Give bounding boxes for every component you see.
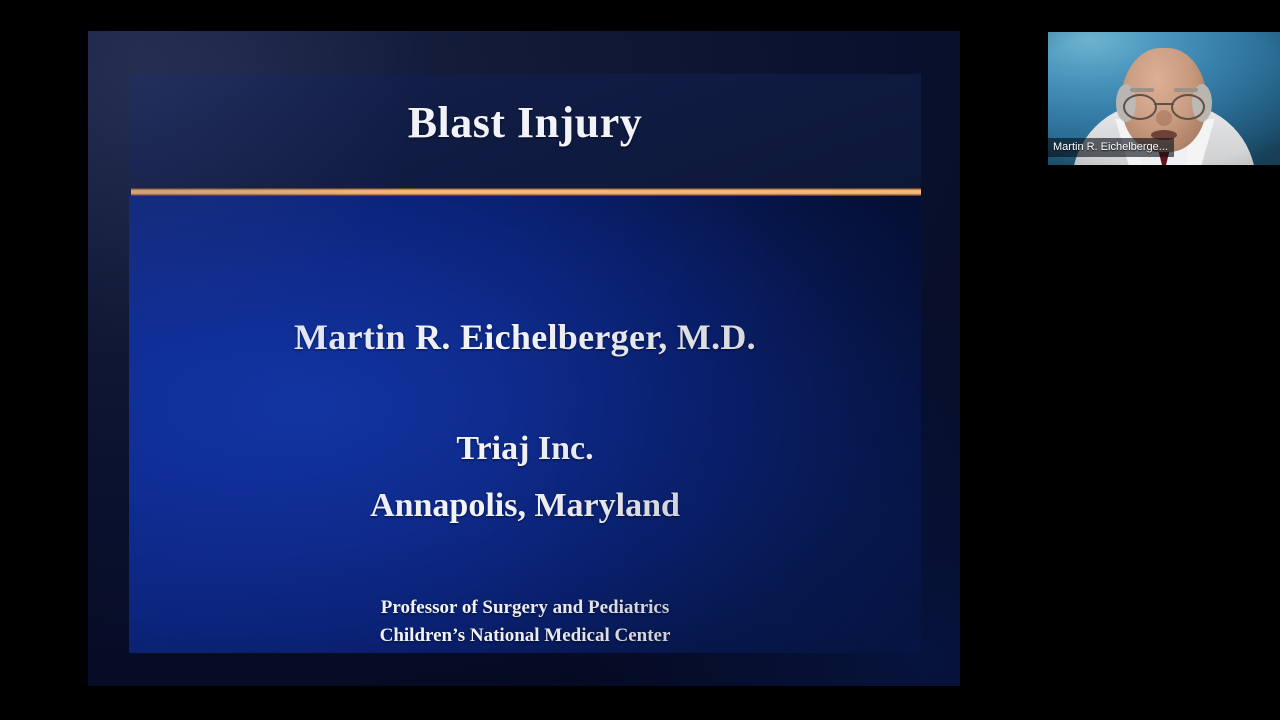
- slide-presenter-name: Martin R. Eichelberger, M.D.: [129, 316, 921, 358]
- slide-title: Blast Injury: [129, 96, 921, 150]
- slide-affiliation-block: Professor of Surgery and Pediatrics Chil…: [129, 594, 921, 653]
- participant-name-label: Martin R. Eichelberge...: [1048, 138, 1174, 157]
- slide-title-band: Blast Injury: [129, 74, 921, 193]
- slide-body: Martin R. Eichelberger, M.D. Triaj Inc. …: [129, 196, 921, 653]
- participant-video-tile[interactable]: Martin R. Eichelberge...: [1048, 32, 1280, 165]
- screen-share-stage: Blast Injury Martin R. Eichelberger, M.D…: [0, 0, 1280, 720]
- slide-city: Annapolis, Maryland: [129, 486, 921, 526]
- slide-divider-rule: [131, 188, 921, 196]
- affiliation-line-2: Children’s National Medical Center: [129, 622, 921, 650]
- affiliation-line-1: Professor of Surgery and Pediatrics: [129, 594, 921, 622]
- slide-body-text: Martin R. Eichelberger, M.D. Triaj Inc. …: [129, 196, 921, 653]
- slide-organization: Triaj Inc.: [129, 429, 921, 469]
- presentation-slide[interactable]: Blast Injury Martin R. Eichelberger, M.D…: [88, 31, 960, 686]
- slide-content-panel: Blast Injury Martin R. Eichelberger, M.D…: [129, 74, 921, 653]
- affiliation-line-3: Washington, D.C.: [129, 650, 921, 653]
